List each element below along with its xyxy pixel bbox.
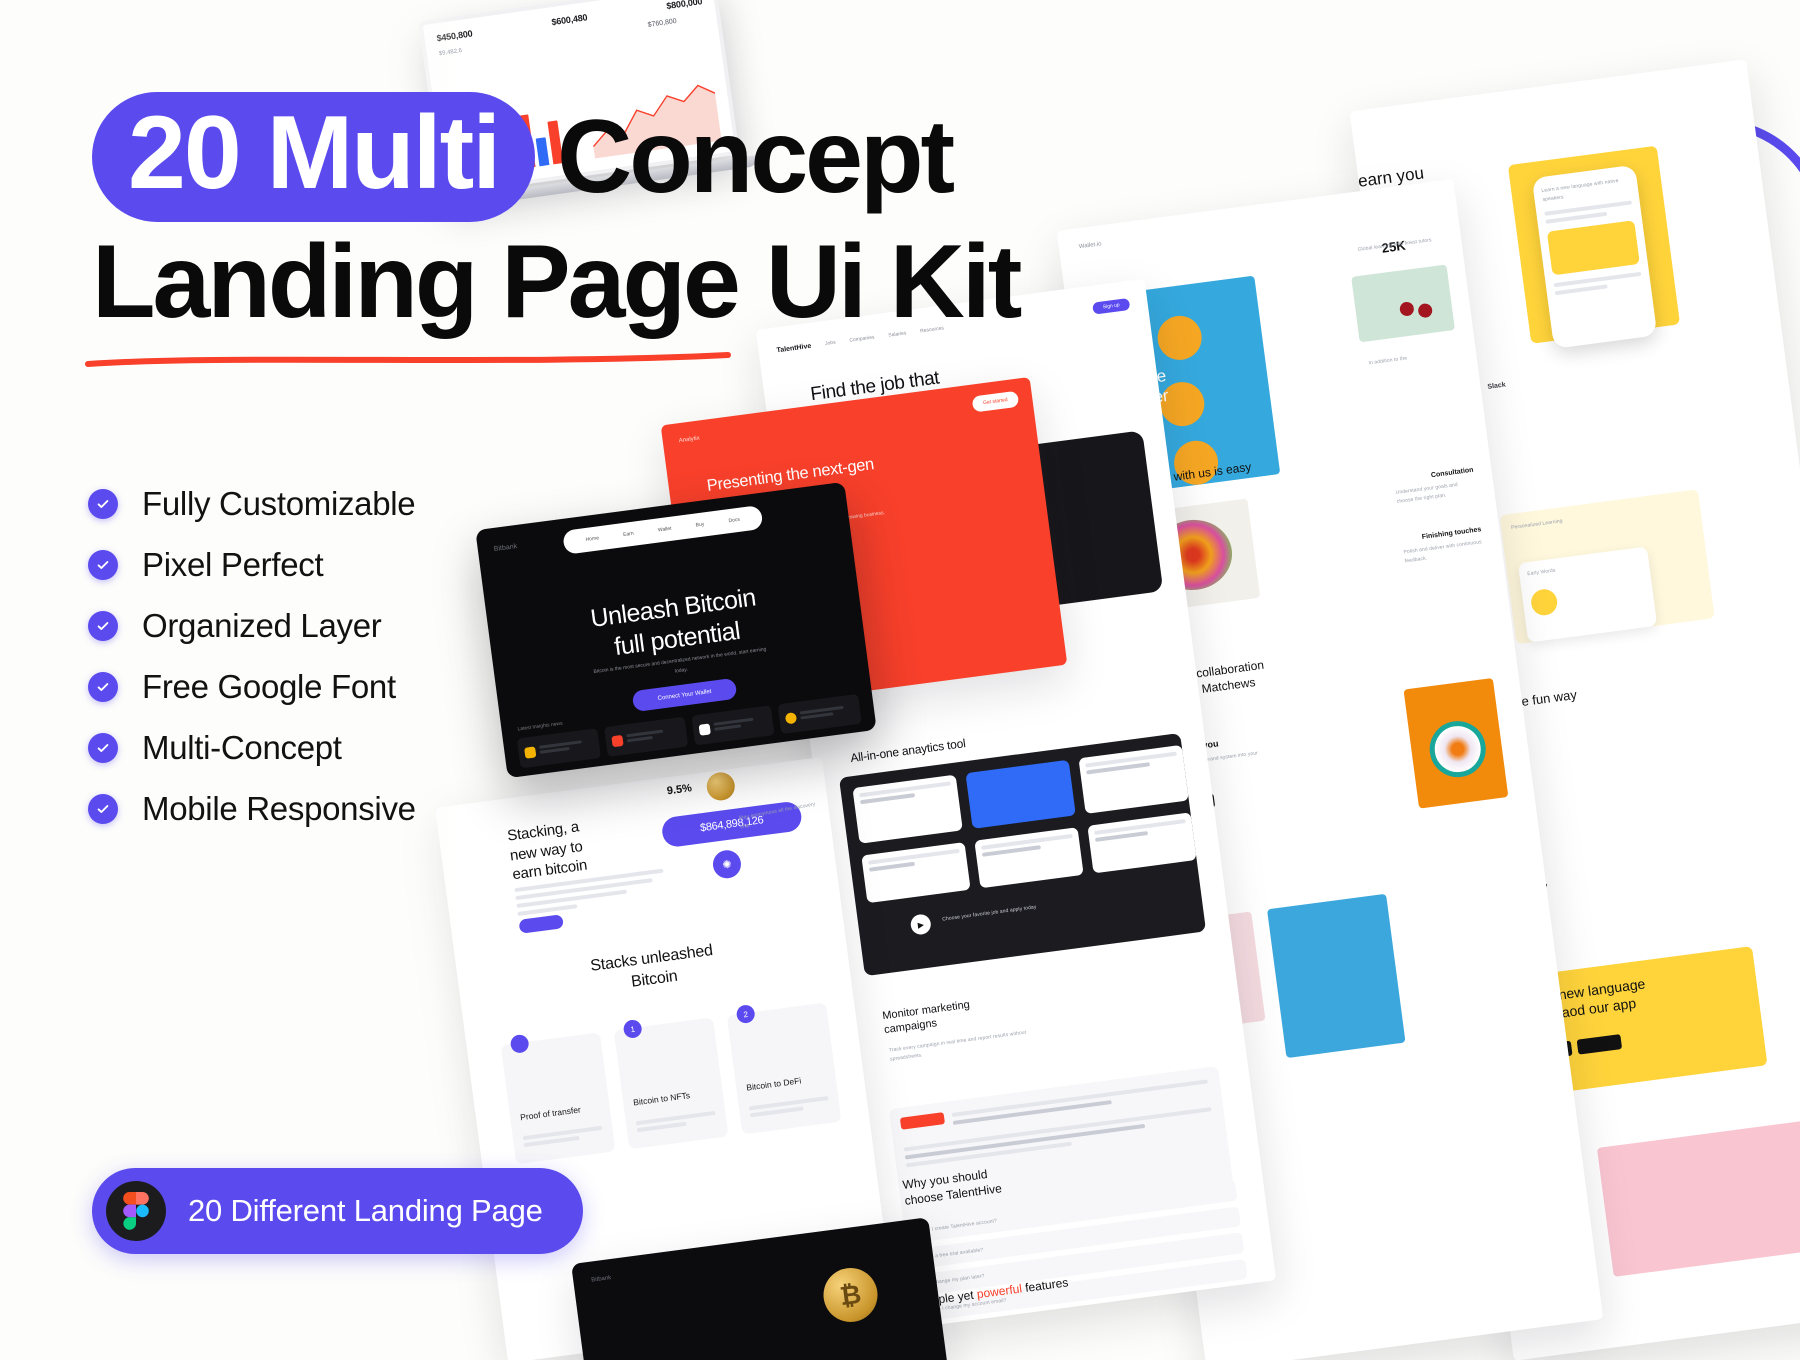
figma-icon	[106, 1181, 166, 1241]
feature-list: Fully Customizable Pixel Perfect Organiz…	[88, 484, 416, 850]
feature-label: Pixel Perfect	[142, 546, 323, 584]
figma-badge[interactable]: 20 Different Landing Page	[92, 1168, 583, 1254]
poster-canvas: Learn youlanguage Learn a new language w…	[0, 0, 1800, 1360]
left-content: 20 Multi Concept Landing Page Ui Kit Ful…	[0, 0, 780, 1360]
feature-label: Multi-Concept	[142, 729, 342, 767]
feature-item: Free Google Font	[88, 667, 416, 706]
check-icon	[88, 489, 118, 519]
learning-orange-photo	[1267, 894, 1406, 1058]
app-phone-title: Learn a new language with native speaker…	[1541, 176, 1630, 204]
check-icon	[88, 733, 118, 763]
orange-underline-stroke	[84, 352, 732, 368]
feature-label: Organized Layer	[142, 607, 381, 645]
jobs-dark-grid: ▶ Choose your favorite job and apply tod…	[839, 733, 1206, 976]
feature-label: Free Google Font	[142, 668, 396, 706]
feature-item: Mobile Responsive	[88, 789, 416, 828]
headline-concept: Concept	[557, 102, 952, 212]
headline-row-1: 20 Multi Concept	[92, 92, 1092, 222]
learning-in-addition: In addition to the	[1368, 348, 1458, 368]
headline-landing-page: Landing Page	[92, 226, 738, 338]
check-icon	[88, 550, 118, 580]
feature-item: Pixel Perfect	[88, 545, 416, 584]
jobs-nav-item[interactable]: Jobs	[825, 340, 836, 347]
headline-ui-kit: Ui Kit	[766, 226, 1020, 338]
app-early-words-card: Early Words	[1518, 546, 1657, 642]
learning-cherry-photo	[1351, 264, 1455, 342]
learning-step-1: Consultation	[1431, 467, 1474, 480]
bitcoin-logo-item	[778, 694, 862, 734]
jobs-tool-heading: All-in-one anaytics tool	[850, 736, 967, 765]
page-title: 20 Multi Concept Landing Page Ui Kit	[92, 92, 1092, 339]
feature-label: Fully Customizable	[142, 485, 415, 523]
check-icon	[88, 672, 118, 702]
bitcoin-footer-coin-icon: ₿	[820, 1265, 881, 1326]
headline-pill: 20 Multi	[92, 92, 535, 222]
headline-row-2: Landing Page Ui Kit	[92, 226, 1092, 338]
jobs-signup-button[interactable]: Sign up	[1092, 298, 1130, 315]
feature-item: Multi-Concept	[88, 728, 416, 767]
feature-label: Mobile Responsive	[142, 790, 416, 828]
check-icon	[88, 794, 118, 824]
learning-orange-panel	[1403, 678, 1508, 809]
feature-item: Organized Layer	[88, 606, 416, 645]
check-icon	[88, 611, 118, 641]
jobs-brand: TalentHive	[776, 342, 812, 353]
app-footer-image	[1597, 1121, 1800, 1277]
app-phone-mock: Learn a new language with native speaker…	[1532, 165, 1658, 349]
figma-badge-label: 20 Different Landing Page	[188, 1193, 543, 1229]
analytics-cta-top[interactable]: Get started	[972, 391, 1020, 413]
feature-item: Fully Customizable	[88, 484, 416, 523]
